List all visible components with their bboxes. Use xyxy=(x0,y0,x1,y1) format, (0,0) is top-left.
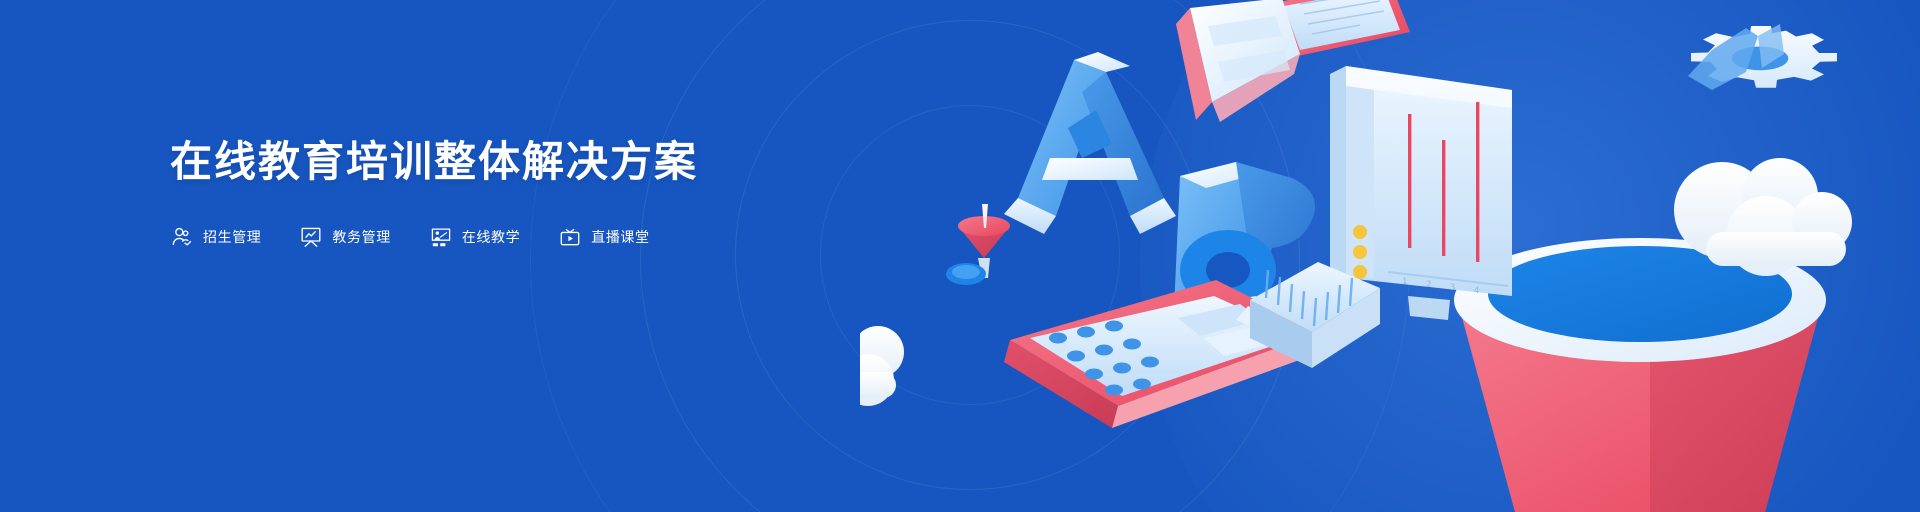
svg-text:3: 3 xyxy=(1450,283,1455,293)
svg-text:4: 4 xyxy=(1474,286,1479,296)
feature-list: 招生管理 教务管理 xyxy=(170,225,790,249)
cloud-small xyxy=(860,326,904,406)
teacher-whiteboard-icon xyxy=(429,225,453,249)
feature-item-enrollment[interactable]: 招生管理 xyxy=(170,225,261,249)
feature-item-academic-affairs[interactable]: 教务管理 xyxy=(299,225,390,249)
feature-label: 招生管理 xyxy=(203,227,261,247)
spinning-top xyxy=(946,204,1010,285)
feature-label: 在线教学 xyxy=(462,227,520,247)
hero-copy: 在线教育培训整体解决方案 招生管理 xyxy=(170,137,790,249)
education-hero-banner: 12 34 xyxy=(0,0,1920,512)
gear xyxy=(1661,13,1868,100)
page-title: 在线教育培训整体解决方案 xyxy=(170,137,790,187)
easel-chart-icon xyxy=(299,225,323,249)
online-education-isometric-illustration: 12 34 xyxy=(860,0,1920,512)
enrollment-people-icon xyxy=(170,225,194,249)
svg-text:1: 1 xyxy=(1402,277,1407,287)
feature-item-live-classroom[interactable]: 直播课堂 xyxy=(558,225,649,249)
feature-item-online-teaching[interactable]: 在线教学 xyxy=(429,225,520,249)
svg-text:2: 2 xyxy=(1426,280,1431,290)
letter-a-3d xyxy=(1004,52,1176,234)
feature-label: 直播课堂 xyxy=(591,227,649,247)
feature-label: 教务管理 xyxy=(332,227,390,247)
live-tv-play-icon xyxy=(558,225,582,249)
